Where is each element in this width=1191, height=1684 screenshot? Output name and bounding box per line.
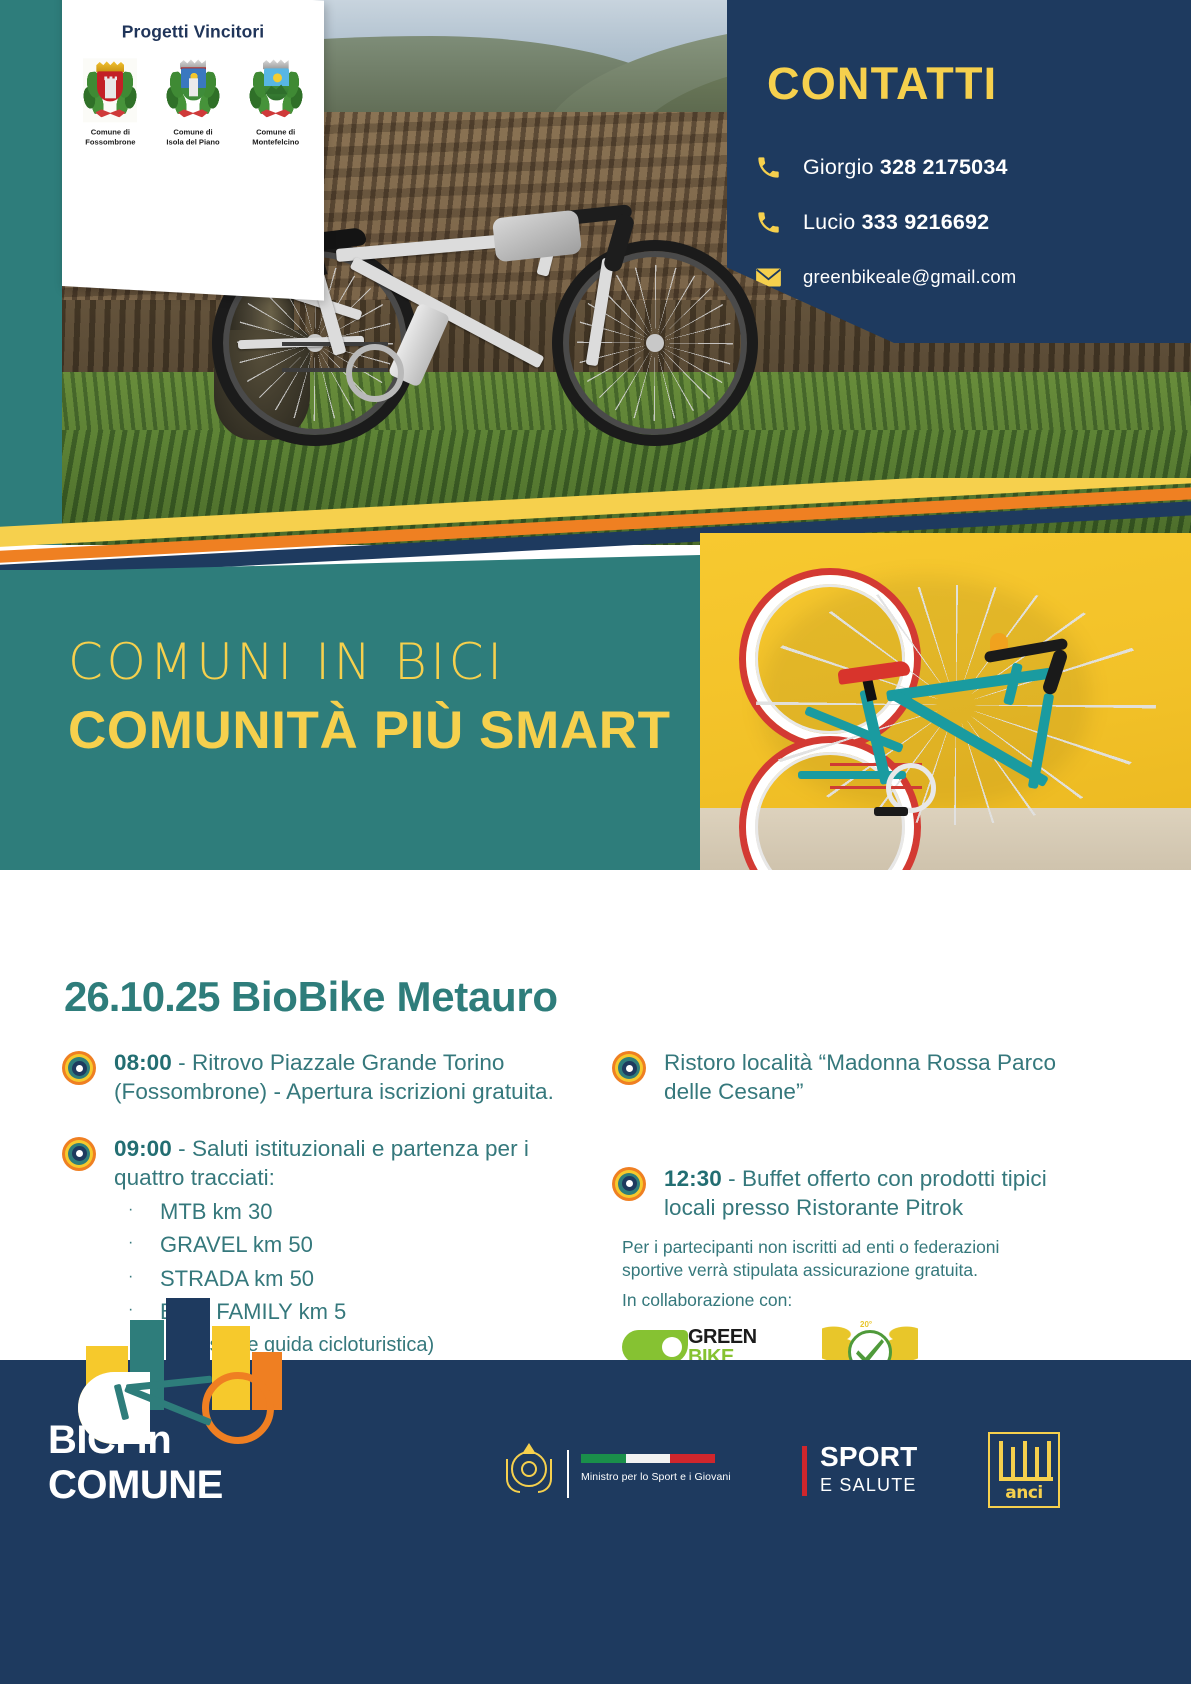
banner-title-light: COMUNI IN BICI: [68, 633, 506, 691]
poster-page: Progetti Vincitori Comune di: [0, 0, 1191, 1684]
contacts-title: CONTATTI: [767, 58, 1191, 110]
contact-row-email[interactable]: greenbikeale@gmail.com: [753, 262, 1191, 292]
route-item: ·GRAVEL km 50: [128, 1228, 602, 1261]
crest-caption-line2: Montefelcino: [239, 137, 312, 147]
divider: [567, 1450, 569, 1498]
hero-photo-banner: Progetti Vincitori Comune di: [0, 0, 1191, 545]
contacts-rows: Giorgio 328 2175034 Lucio 333 9216692 gr…: [753, 152, 1191, 292]
schedule-dash: -: [722, 1166, 742, 1191]
ring-bullet-icon: [62, 1051, 96, 1085]
contact-name: Lucio: [803, 210, 855, 234]
schedule-item: Ristoro località “Madonna Rossa Parco de…: [612, 1048, 1082, 1107]
contact-text: Giorgio 328 2175034: [803, 155, 1008, 180]
schedule-item-text: 08:00 - Ritrovo Piazzale Grande Torino (…: [114, 1048, 602, 1107]
contact-row-giorgio[interactable]: Giorgio 328 2175034: [753, 152, 1191, 182]
ring-bullet-icon: [62, 1137, 96, 1171]
event-name: BioBike Metauro: [231, 973, 558, 1020]
contact-email-value: greenbikeale@gmail.com: [803, 266, 1016, 288]
coat-of-arms-isola-del-piano-icon: [160, 58, 226, 122]
crest-caption-line2: Fossombrone: [74, 137, 147, 147]
schedule-description: Ristoro località “Madonna Rossa Parco de…: [664, 1050, 1056, 1104]
sport-line1: SPORT: [820, 1443, 917, 1471]
logo-word-in: in: [126, 1418, 171, 1462]
logo-word-bici: BICI: [48, 1418, 126, 1462]
schedule-item: 12:30 - Buffet offerto con prodotti tipi…: [612, 1164, 1082, 1223]
contact-row-lucio[interactable]: Lucio 333 9216692: [753, 207, 1191, 237]
crest-item-isola-del-piano: Comune di Isola del Piano: [157, 58, 230, 146]
anci-label: anci: [993, 1483, 1055, 1503]
saddle-bag: [492, 210, 582, 263]
contact-value: 333 9216692: [862, 210, 990, 234]
route-item: ·MTB km 30: [128, 1195, 602, 1228]
front-spokes: [756, 585, 1156, 825]
crest-caption-line1: Comune di: [239, 127, 312, 137]
yellow-wall-bike-photo: [700, 533, 1191, 870]
bici-in-comune-logo-icon: BICI in COMUNE: [48, 1290, 328, 1550]
ministry-logo: Ministro per lo Sport e i Giovani: [505, 1441, 731, 1495]
green-bike-swoosh: [622, 1330, 688, 1364]
ring-bullet-icon: [612, 1167, 646, 1201]
crest-caption-line1: Comune di: [157, 127, 230, 137]
phone-icon: [753, 152, 783, 182]
ministry-text-block: Ministro per lo Sport e i Giovani: [567, 1454, 731, 1483]
winners-card: Progetti Vincitori Comune di: [62, 0, 324, 301]
crest-caption: Comune di Montefelcino: [239, 127, 312, 146]
republic-emblem-icon: [505, 1441, 553, 1495]
schedule-item-text: 09:00 - Saluti istituzionali e partenza …: [114, 1136, 529, 1190]
schedule-dash: -: [172, 1136, 192, 1161]
schedule-section: 26.10.25 BioBike Metauro 08:00 - Ritrovo…: [0, 870, 1191, 1360]
route-bullet: ·: [128, 1195, 160, 1228]
route-label: MTB km 30: [160, 1195, 272, 1228]
crest-caption-line2: Isola del Piano: [157, 137, 230, 147]
sport-line2: E SALUTE: [820, 1475, 917, 1496]
contacts-panel: CONTATTI Giorgio 328 2175034 Lucio 333 9…: [727, 0, 1191, 343]
collaboration-label: In collaborazione con:: [622, 1290, 792, 1311]
ministry-label: Ministro per lo Sport e i Giovani: [581, 1471, 731, 1483]
crankset: [886, 763, 936, 813]
route-bullet: ·: [128, 1228, 160, 1261]
schedule-time: 08:00: [114, 1050, 172, 1075]
front-hub: [646, 334, 664, 352]
anci-logo-icon: anci: [988, 1432, 1060, 1508]
crest-list: Comune di Fossombrone: [74, 58, 312, 146]
contact-text: Lucio 333 9216692: [803, 210, 989, 235]
ring-bullet-icon: [612, 1051, 646, 1085]
crest-caption: Comune di Isola del Piano: [157, 127, 230, 146]
event-date: 26.10.25: [64, 973, 220, 1020]
route-label: GRAVEL km 50: [160, 1228, 313, 1261]
coat-of-arms-montefelcino-icon: [243, 58, 309, 122]
briganti-badge: 20°: [860, 1320, 872, 1329]
schedule-item: 08:00 - Ritrovo Piazzale Grande Torino (…: [62, 1048, 602, 1107]
teal-bike-illustration: [746, 575, 1166, 835]
schedule-time: 09:00: [114, 1136, 172, 1161]
insurance-note: Per i partecipanti non iscritti ad enti …: [622, 1236, 1062, 1282]
crest-caption-line1: Comune di: [74, 127, 147, 137]
sport-red-bar: [802, 1446, 807, 1496]
logo-wordmark: BICI in COMUNE: [48, 1418, 328, 1508]
schedule-time: 12:30: [664, 1166, 722, 1191]
coat-of-arms-fossombrone-icon: [77, 58, 143, 122]
schedule-item-text: 12:30 - Buffet offerto con prodotti tipi…: [664, 1164, 1082, 1223]
phone-icon: [753, 207, 783, 237]
contact-name: Giorgio: [803, 155, 874, 179]
crest-caption: Comune di Fossombrone: [74, 127, 147, 146]
anci-tower-graphic: [993, 1437, 1055, 1481]
banner-title-bold: COMUNITÀ PIÙ SMART: [68, 700, 671, 761]
event-date-heading: 26.10.25 BioBike Metauro: [64, 973, 558, 1021]
hero-teal-side-strip: [0, 0, 62, 545]
crest-item-fossombrone: Comune di Fossombrone: [74, 58, 147, 146]
schedule-item-text: Ristoro località “Madonna Rossa Parco de…: [664, 1048, 1082, 1107]
crankset: [346, 344, 404, 402]
pedal: [874, 807, 908, 816]
logo-word-comune: COMUNE: [48, 1463, 223, 1507]
italian-flag-icon: [581, 1454, 715, 1463]
schedule-column-right: Ristoro località “Madonna Rossa Parco de…: [612, 1048, 1082, 1249]
crest-item-montefelcino: Comune di Montefelcino: [239, 58, 312, 146]
front-wheel: [552, 240, 758, 446]
schedule-dash: -: [172, 1050, 192, 1075]
contact-value: 328 2175034: [880, 155, 1008, 179]
winners-title: Progetti Vincitori: [74, 21, 312, 42]
sport-e-salute-logo-icon: SPORT E SALUTE: [802, 1443, 917, 1496]
